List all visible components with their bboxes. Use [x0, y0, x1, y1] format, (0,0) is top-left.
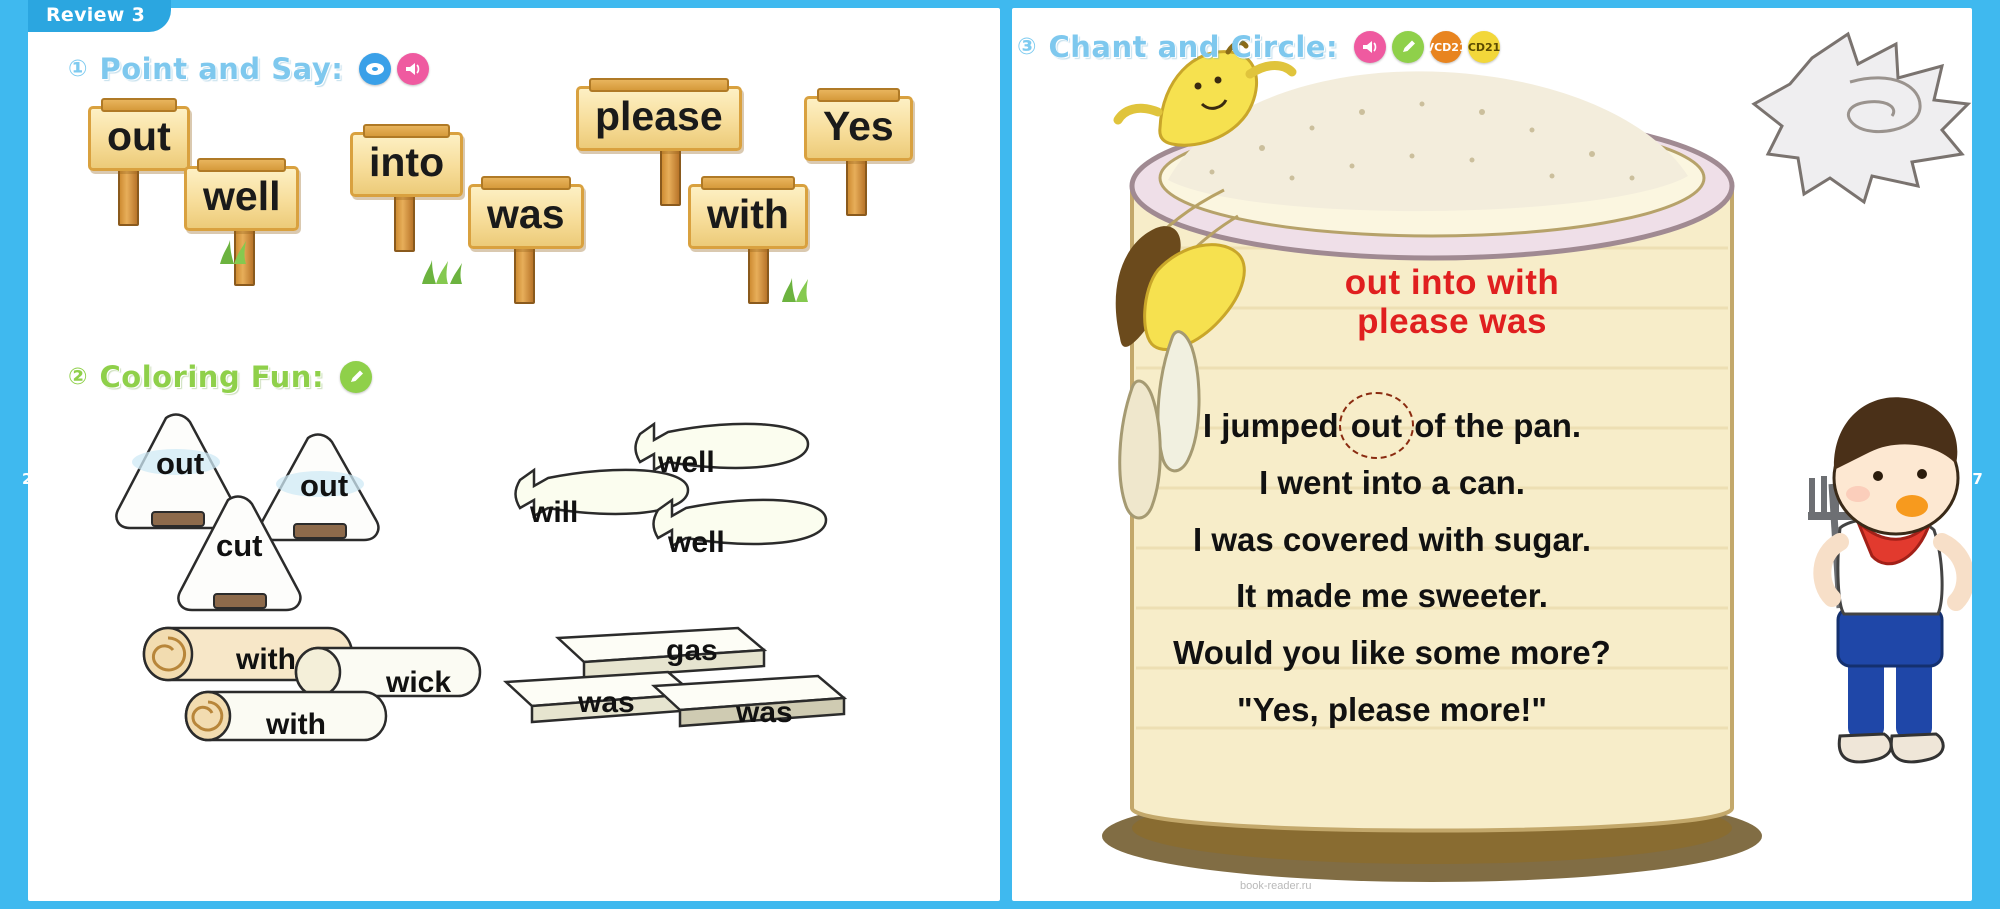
coloring-label-candy-will: will: [530, 496, 578, 530]
section-heading-point-and-say: ① Point and Say:: [68, 52, 429, 86]
signpost-yes: Yes: [804, 96, 913, 161]
section-heading-chant-and-circle: ③ Chant and Circle: VCD21 CD21: [1017, 30, 1500, 64]
signpost-word: out: [107, 113, 171, 159]
section-number-3: ③: [1017, 34, 1036, 60]
pencil-icon[interactable]: [340, 361, 372, 393]
coloring-label-riceball-1: out: [156, 446, 204, 482]
coloring-label-roll-wick: wick: [386, 666, 451, 700]
chant-text: I jumped out of the pan. I went into a c…: [1082, 398, 1702, 739]
coloring-label-bar-was-2: was: [736, 696, 793, 730]
chant-line-3: I was covered with sugar.: [1082, 512, 1702, 569]
cd-badge[interactable]: CD21: [1468, 31, 1500, 63]
section-1-badges: [359, 53, 429, 85]
rice-ball-group: [108, 408, 488, 628]
signpost-board: out: [88, 106, 190, 171]
grass-icon: [216, 238, 272, 264]
pencil-icon[interactable]: [1392, 31, 1424, 63]
coloring-fun-area: out out cut well will well: [68, 408, 968, 878]
section-title-3: Chant and Circle:: [1048, 30, 1338, 64]
speaker-icon[interactable]: [397, 53, 429, 85]
chant-line-5: Would you like some more?: [1082, 625, 1702, 682]
signpost-board: please: [576, 86, 742, 151]
section-2-badges: [340, 361, 372, 393]
cd-icon[interactable]: [359, 53, 391, 85]
signpost-with: with: [688, 184, 808, 249]
signpost-please: please: [576, 86, 742, 151]
coloring-label-riceball-3: cut: [216, 528, 263, 564]
signpost-word: with: [707, 191, 789, 237]
signpost-word: Yes: [823, 103, 894, 149]
signpost-into: into: [350, 132, 463, 197]
vcd-badge[interactable]: VCD21: [1430, 31, 1462, 63]
review-tab: Review 3: [28, 0, 171, 32]
page-number-left: 26: [22, 470, 43, 488]
grass-icon: [418, 258, 474, 284]
signpost-group: out well into: [88, 86, 968, 316]
left-page: ① Point and Say: out: [28, 8, 1000, 901]
coloring-label-bar-gas: gas: [666, 634, 718, 668]
chant-line-4: It made me sweeter.: [1082, 568, 1702, 625]
coloring-label-candy-well-2: well: [668, 526, 725, 560]
signpost-was: was: [468, 184, 584, 249]
chant-keywords: out into with please was: [1242, 263, 1662, 341]
watermark: book-reader.ru: [1240, 880, 1312, 892]
section-number-1: ①: [68, 56, 87, 82]
signpost-board: into: [350, 132, 463, 197]
section-title-1: Point and Say:: [99, 52, 343, 86]
signpost-word: into: [369, 139, 444, 185]
chant-line-1-pre: I jumped: [1203, 407, 1348, 444]
grass-icon: [778, 276, 834, 302]
signpost-board: Yes: [804, 96, 913, 161]
chant-line-1: I jumped out of the pan.: [1082, 398, 1702, 455]
chant-line-1-post: of the pan.: [1405, 407, 1581, 444]
chant-line-6: "Yes, please more!": [1082, 682, 1702, 739]
coloring-label-roll-with-2: with: [266, 708, 326, 742]
right-page: ③ Chant and Circle: VCD21 CD21 out into …: [1012, 8, 1972, 901]
chant-line-2: I went into a can.: [1082, 455, 1702, 512]
signpost-out: out: [88, 106, 190, 171]
coloring-label-bar-was-1: was: [578, 686, 635, 720]
signpost-board: well: [184, 166, 299, 231]
section-number-2: ②: [68, 364, 87, 390]
section-heading-coloring-fun: ② Coloring Fun:: [68, 360, 372, 394]
coloring-label-roll-with-1: with: [236, 643, 296, 677]
signpost-word: was: [487, 191, 565, 237]
chant-illustration: ③ Chant and Circle: VCD21 CD21 out into …: [1012, 8, 1972, 901]
speaker-icon[interactable]: [1354, 31, 1386, 63]
signpost-word: well: [203, 173, 280, 219]
coloring-label-riceball-2: out: [300, 468, 348, 504]
signpost-well: well: [184, 166, 299, 231]
coloring-label-candy-well-1: well: [658, 446, 715, 480]
section-3-badges: VCD21 CD21: [1354, 31, 1500, 63]
circled-word-out[interactable]: out: [1348, 398, 1405, 455]
book-spread: ① Point and Say: out: [0, 0, 2000, 909]
signpost-word: please: [595, 93, 723, 139]
signpost-board: with: [688, 184, 808, 249]
section-title-2: Coloring Fun:: [99, 360, 324, 394]
signpost-board: was: [468, 184, 584, 249]
page-number-right: 27: [1962, 470, 1983, 488]
chant-keywords-line-2: please was: [1242, 302, 1662, 341]
chant-keywords-line-1: out into with: [1242, 263, 1662, 302]
